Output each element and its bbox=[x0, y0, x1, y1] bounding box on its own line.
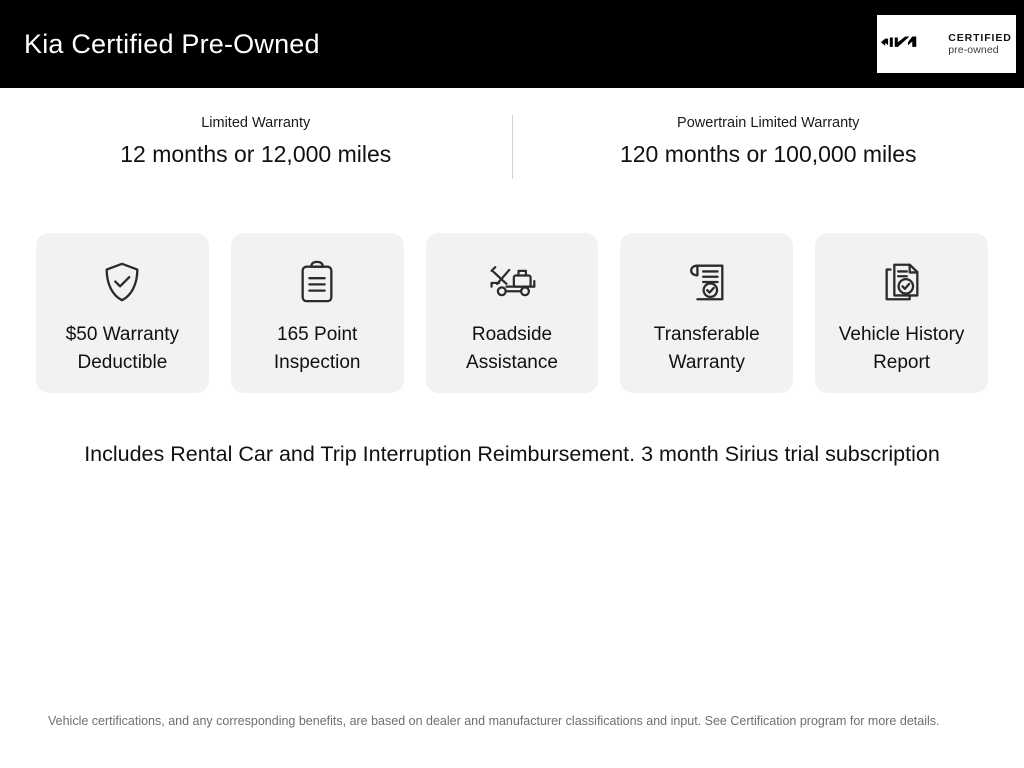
feature-card-transferable-warranty[interactable]: Transferable Warranty bbox=[620, 233, 793, 393]
feature-card-label: 165 Point Inspection bbox=[231, 321, 404, 377]
feature-card-list: $50 Warranty Deductible 165 Point Inspec… bbox=[36, 233, 988, 393]
certificate-check-icon bbox=[684, 257, 730, 307]
warranty-label: Limited Warranty bbox=[0, 112, 512, 134]
warranty-label: Powertrain Limited Warranty bbox=[513, 112, 1024, 134]
warranty-value: 12 months or 12,000 miles bbox=[0, 137, 512, 171]
page-title: Kia Certified Pre-Owned bbox=[24, 27, 320, 61]
feature-card-vehicle-history-report[interactable]: Vehicle History Report bbox=[815, 233, 988, 393]
warranty-block-powertrain: Powertrain Limited Warranty 120 months o… bbox=[513, 112, 1024, 171]
badge-certified-label: CERTIFIED bbox=[948, 33, 1012, 44]
documents-check-icon bbox=[879, 257, 925, 307]
feature-card-label: Vehicle History Report bbox=[815, 321, 988, 377]
warranty-summary-row: Limited Warranty 12 months or 12,000 mil… bbox=[0, 112, 1024, 182]
feature-card-label: Transferable Warranty bbox=[620, 321, 793, 377]
badge-text-group: CERTIFIED pre-owned bbox=[948, 33, 1012, 56]
page-header: Kia Certified Pre-Owned CERTIFIED pre-ow… bbox=[0, 0, 1024, 88]
feature-card-label: Roadside Assistance bbox=[426, 321, 599, 377]
feature-card-label: $50 Warranty Deductible bbox=[36, 321, 209, 377]
kia-certified-pre-owned-badge: CERTIFIED pre-owned bbox=[877, 15, 1016, 73]
warranty-block-limited: Limited Warranty 12 months or 12,000 mil… bbox=[0, 112, 512, 171]
legal-disclaimer: Vehicle certifications, and any correspo… bbox=[48, 712, 988, 731]
kia-logo-icon bbox=[881, 32, 939, 57]
warranty-value: 120 months or 100,000 miles bbox=[513, 137, 1024, 171]
clipboard-icon bbox=[295, 257, 339, 307]
feature-card-roadside-assistance[interactable]: Roadside Assistance bbox=[426, 233, 599, 393]
tow-truck-icon bbox=[486, 257, 538, 307]
shield-check-icon bbox=[99, 257, 145, 307]
feature-card-warranty-deductible[interactable]: $50 Warranty Deductible bbox=[36, 233, 209, 393]
benefits-tagline: Includes Rental Car and Trip Interruptio… bbox=[0, 438, 1024, 470]
badge-preowned-label: pre-owned bbox=[948, 45, 1012, 56]
feature-card-point-inspection[interactable]: 165 Point Inspection bbox=[231, 233, 404, 393]
